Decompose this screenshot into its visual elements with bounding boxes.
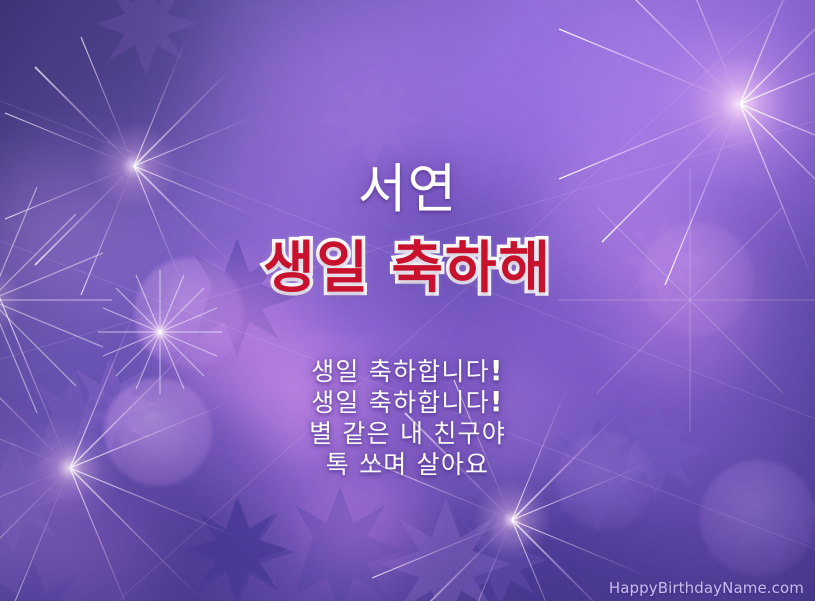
verse-line: 생일 축하합니다! — [0, 387, 815, 418]
verse-line: 생일 축하합니다! — [0, 356, 815, 387]
verse-line-text: 톡 쏘며 살아요 — [326, 450, 490, 479]
birthday-card: 서연 생일 축하해 생일 축하합니다! 생일 축하합니다! 별 같은 내 친구야… — [0, 0, 815, 601]
greeting-headline: 생일 축하해 — [0, 239, 815, 299]
verse-line: 톡 쏘며 살아요 — [0, 449, 815, 480]
card-text-block: 서연 생일 축하해 생일 축하합니다! 생일 축하합니다! 별 같은 내 친구야… — [0, 0, 815, 601]
verse-line-bang: ! — [490, 385, 504, 418]
verse-line: 별 같은 내 친구야 — [0, 418, 815, 449]
verse-block: 생일 축하합니다! 생일 축하합니다! 별 같은 내 친구야 톡 쏘며 살아요 — [0, 356, 815, 480]
watermark-site-name: HappyBirthdayName.com — [609, 579, 804, 597]
verse-line-text: 생일 축하합니다 — [311, 357, 490, 386]
verse-line-text: 생일 축하합니다 — [311, 388, 490, 417]
verse-line-text: 별 같은 내 친구야 — [309, 419, 506, 448]
verse-line-bang: ! — [490, 354, 504, 387]
recipient-name: 서연 — [0, 163, 815, 216]
